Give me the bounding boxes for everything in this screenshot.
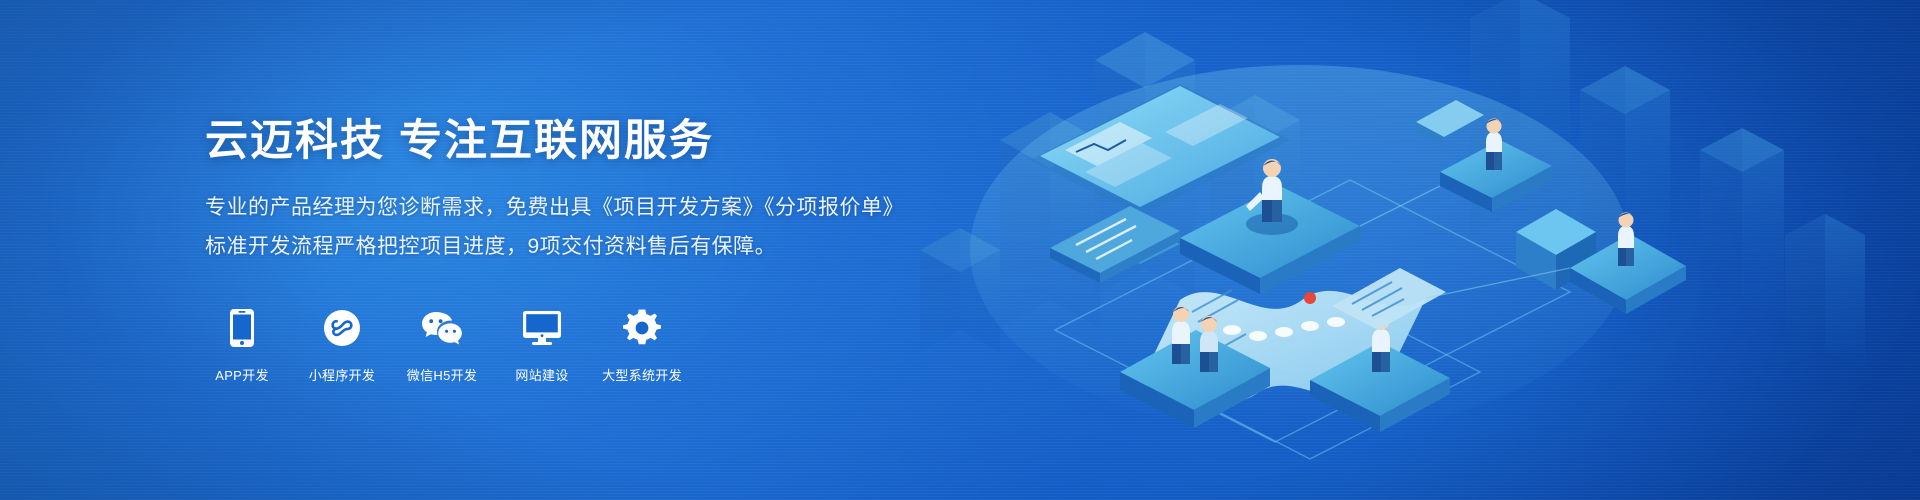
service-list: APP开发 小程序开发 bbox=[205, 307, 965, 384]
gear-icon bbox=[621, 307, 663, 349]
illustration-person-right-top bbox=[1486, 119, 1502, 171]
hero-headline: 云迈科技 专注互联网服务 bbox=[205, 116, 965, 167]
mobile-phone-icon bbox=[221, 307, 263, 349]
service-item-wechat[interactable]: 微信H5开发 bbox=[405, 307, 479, 384]
hero-illustration bbox=[880, 0, 1920, 500]
hero-content: 云迈科技 专注互联网服务 专业的产品经理为您诊断需求，免费出具《项目开发方案》《… bbox=[205, 0, 965, 500]
hero-subtitle-line-2: 标准开发流程严格把控项目进度，9项交付资料售后有保障。 bbox=[205, 228, 965, 267]
service-label-wechat: 微信H5开发 bbox=[407, 365, 477, 384]
service-item-website[interactable]: 网站建设 bbox=[505, 307, 579, 384]
service-item-system[interactable]: 大型系统开发 bbox=[605, 307, 679, 384]
service-label-website: 网站建设 bbox=[515, 365, 568, 384]
service-item-mini-program[interactable]: 小程序开发 bbox=[305, 307, 379, 384]
accent-dot bbox=[1304, 292, 1316, 304]
mini-program-icon bbox=[321, 307, 363, 349]
wechat-icon bbox=[421, 307, 463, 349]
illustration-person-right-mid bbox=[1618, 213, 1634, 267]
service-label-app: APP开发 bbox=[215, 365, 269, 384]
illustration-person-lower-left-a bbox=[1172, 306, 1190, 364]
illustration-person-lower-left-b bbox=[1200, 316, 1218, 372]
hero-subtitle-line-1: 专业的产品经理为您诊断需求，免费出具《项目开发方案》《分项报价单》 bbox=[205, 189, 965, 228]
monitor-icon bbox=[521, 307, 563, 349]
service-label-system: 大型系统开发 bbox=[602, 365, 682, 384]
service-item-app[interactable]: APP开发 bbox=[205, 307, 279, 384]
service-label-mini-program: 小程序开发 bbox=[309, 365, 376, 384]
hero-banner: 云迈科技 专注互联网服务 专业的产品经理为您诊断需求，免费出具《项目开发方案》《… bbox=[0, 0, 1920, 500]
